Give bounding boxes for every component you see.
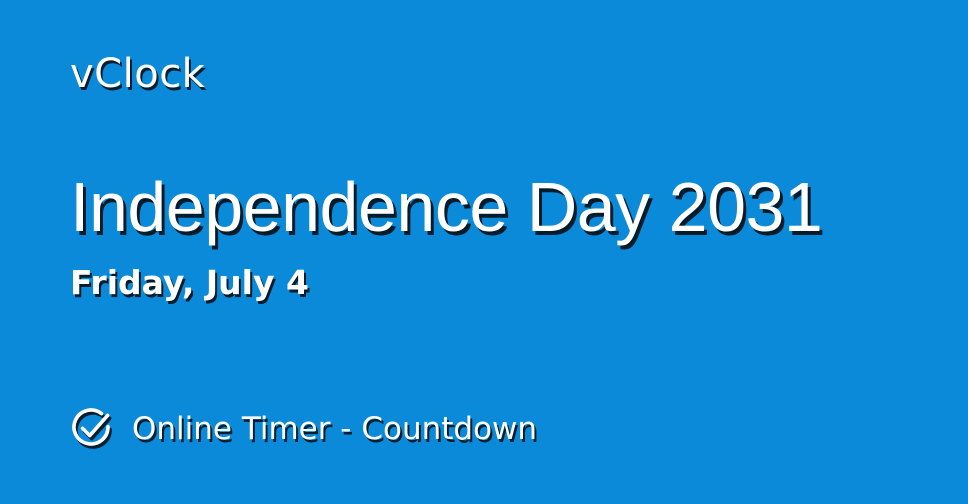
online-timer-link[interactable]: Online Timer - Countdown (68, 405, 537, 453)
online-timer-label: Online Timer - Countdown (132, 409, 537, 449)
event-date: Friday, July 4 (70, 262, 309, 304)
vclock-logo[interactable]: vClock (70, 50, 205, 98)
preview-card: vClock Independence Day 2031 Friday, Jul… (0, 0, 968, 504)
circle-check-timer-icon (68, 405, 116, 453)
page-title: Independence Day 2031 (70, 168, 822, 246)
